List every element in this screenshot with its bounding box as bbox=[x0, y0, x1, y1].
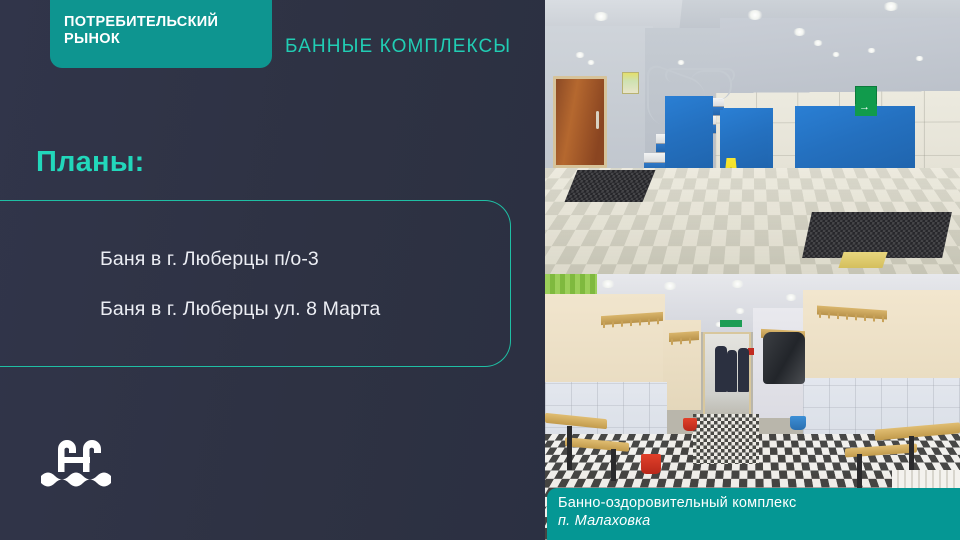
ceiling-light bbox=[663, 282, 677, 290]
ceiling-light bbox=[883, 2, 899, 11]
presentation-slide: ПОТРЕБИТЕЛЬСКИЙ РЫНОК БАННЫЕ КОМПЛЕКСЫ П… bbox=[0, 0, 960, 540]
wall-reflection bbox=[677, 60, 685, 65]
wall-reflection bbox=[867, 48, 876, 53]
plans-box: Баня в г. Люберцы п/о-3 Баня в г. Люберц… bbox=[0, 200, 511, 367]
red-bucket bbox=[683, 418, 697, 431]
badge-line-2: РЫНОК bbox=[64, 31, 258, 48]
ceiling-light bbox=[731, 280, 744, 288]
hanging-coats bbox=[763, 332, 805, 384]
person bbox=[727, 350, 737, 392]
exit-arrow-icon bbox=[855, 104, 877, 116]
person bbox=[738, 348, 749, 392]
coat-hook-rail bbox=[669, 331, 699, 342]
exit-sign-icon bbox=[720, 320, 742, 327]
ceiling-light bbox=[793, 28, 806, 36]
pool-wall-blue bbox=[665, 96, 713, 176]
photo-column bbox=[545, 0, 960, 540]
sauna-door bbox=[553, 76, 607, 168]
list-item: Баня в г. Люберцы п/о-3 bbox=[100, 248, 500, 271]
wall-reflection bbox=[575, 52, 585, 58]
blue-bucket bbox=[790, 416, 806, 430]
red-bucket bbox=[641, 454, 661, 474]
wall-reflection bbox=[832, 52, 840, 57]
photo-caption: Банно-оздоровительный комплекс п. Малахо… bbox=[547, 488, 960, 540]
badge-line-1: ПОТРЕБИТЕЛЬСКИЙ bbox=[64, 14, 258, 31]
ceiling-light bbox=[813, 40, 823, 46]
swimming-pool-ladder-icon bbox=[38, 432, 124, 488]
folded-towels bbox=[892, 470, 960, 490]
caption-line-1: Банно-оздоровительный комплекс bbox=[558, 494, 960, 512]
plans-list: Баня в г. Люберцы п/о-3 Баня в г. Люберц… bbox=[100, 201, 500, 368]
caption-line-2: п. Малаховка bbox=[558, 512, 960, 530]
person bbox=[715, 346, 727, 392]
ceiling-light bbox=[735, 308, 745, 314]
ceiling-light bbox=[593, 12, 609, 21]
page-title: Планы: bbox=[36, 146, 145, 179]
ceiling-light bbox=[601, 280, 615, 288]
corridor-floor bbox=[693, 414, 759, 464]
section-badge: ПОТРЕБИТЕЛЬСКИЙ РЫНОК bbox=[50, 0, 272, 68]
yellow-plank bbox=[838, 252, 887, 268]
ceiling-light bbox=[747, 10, 763, 20]
pool-hall-photo bbox=[545, 0, 960, 274]
wall-reflection bbox=[915, 56, 924, 61]
wall-poster bbox=[622, 72, 639, 94]
slide-kicker-title: БАННЫЕ КОМПЛЕКСЫ bbox=[285, 36, 511, 58]
ceiling-light bbox=[785, 294, 797, 301]
rubber-mat bbox=[565, 170, 656, 202]
wall-reflection bbox=[587, 60, 595, 65]
list-item: Баня в г. Люберцы ул. 8 Марта bbox=[100, 298, 500, 321]
green-curtain bbox=[545, 274, 597, 296]
